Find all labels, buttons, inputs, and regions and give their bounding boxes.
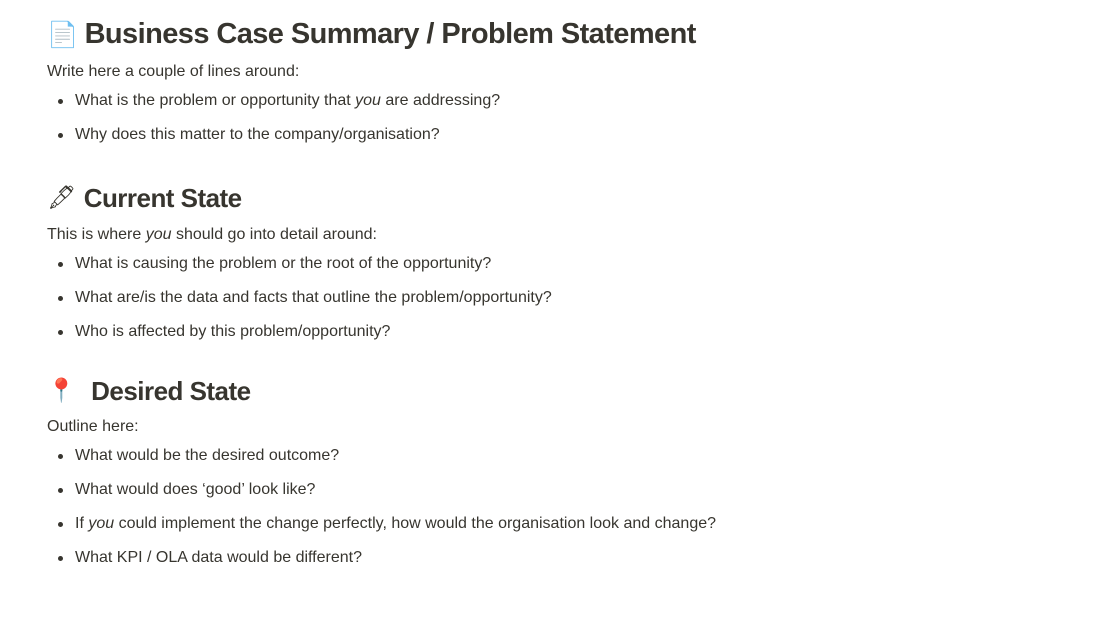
page-title-text: Business Case Summary / Problem Statemen… [85, 16, 696, 52]
summary-lead-text: Write here a couple of lines around: [47, 52, 1112, 84]
list-item-text-pre: Why does this matter to the company/orga… [75, 126, 440, 143]
list-item-text-pre: If [75, 515, 88, 532]
section-heading-text: Current State [84, 182, 242, 215]
list-item-emphasis: you [88, 515, 114, 532]
list-item: Who is affected by this problem/opportun… [47, 315, 1112, 349]
list-item-text-pre: What KPI / OLA data would be different? [75, 549, 362, 566]
section-spacer [47, 349, 1112, 375]
fountain-pen-icon: 🖋 [47, 187, 76, 210]
list-item-text-post: are addressing? [381, 92, 500, 109]
list-item: What would be the desired outcome? [47, 439, 1112, 473]
list-item-text-post: could implement the change perfectly, ho… [114, 515, 716, 532]
section-heading-desired-state: 📍 Desired State [47, 375, 1112, 408]
desired-state-bullet-list: What would be the desired outcome? What … [47, 439, 1112, 575]
list-item-emphasis: you [355, 92, 381, 109]
list-item-text-pre: What would does ‘good’ look like? [75, 481, 315, 498]
page-title: 📄 Business Case Summary / Problem Statem… [47, 0, 1112, 52]
document-page: 📄 Business Case Summary / Problem Statem… [0, 0, 1112, 640]
page-facing-up-icon: 📄 [47, 22, 78, 47]
current-state-bullet-list: What is causing the problem or the root … [47, 247, 1112, 349]
list-item: What KPI / OLA data would be different? [47, 541, 1112, 575]
list-item-text-pre: What is causing the problem or the root … [75, 255, 491, 272]
list-item: What is the problem or opportunity that … [47, 84, 1112, 118]
list-item-text-pre: What are/is the data and facts that outl… [75, 289, 552, 306]
list-item: What is causing the problem or the root … [47, 247, 1112, 281]
round-pushpin-icon: 📍 [47, 380, 75, 403]
lead-text-post: should go into detail around: [172, 226, 377, 243]
lead-text-pre: This is where [47, 226, 146, 243]
list-item-text-pre: Who is affected by this problem/opportun… [75, 323, 390, 340]
section-spacer [47, 152, 1112, 182]
list-item: What are/is the data and facts that outl… [47, 281, 1112, 315]
list-item: If you could implement the change perfec… [47, 507, 1112, 541]
section-heading-current-state: 🖋 Current State [47, 182, 1112, 215]
desired-state-lead-text: Outline here: [47, 407, 1112, 439]
list-item-text-pre: What is the problem or opportunity that [75, 92, 355, 109]
section-heading-text: Desired State [91, 375, 250, 408]
summary-bullet-list: What is the problem or opportunity that … [47, 84, 1112, 152]
lead-emphasis: you [146, 226, 172, 243]
list-item: Why does this matter to the company/orga… [47, 118, 1112, 152]
list-item-text-pre: What would be the desired outcome? [75, 447, 339, 464]
current-state-lead-text: This is where you should go into detail … [47, 215, 1112, 247]
list-item: What would does ‘good’ look like? [47, 473, 1112, 507]
